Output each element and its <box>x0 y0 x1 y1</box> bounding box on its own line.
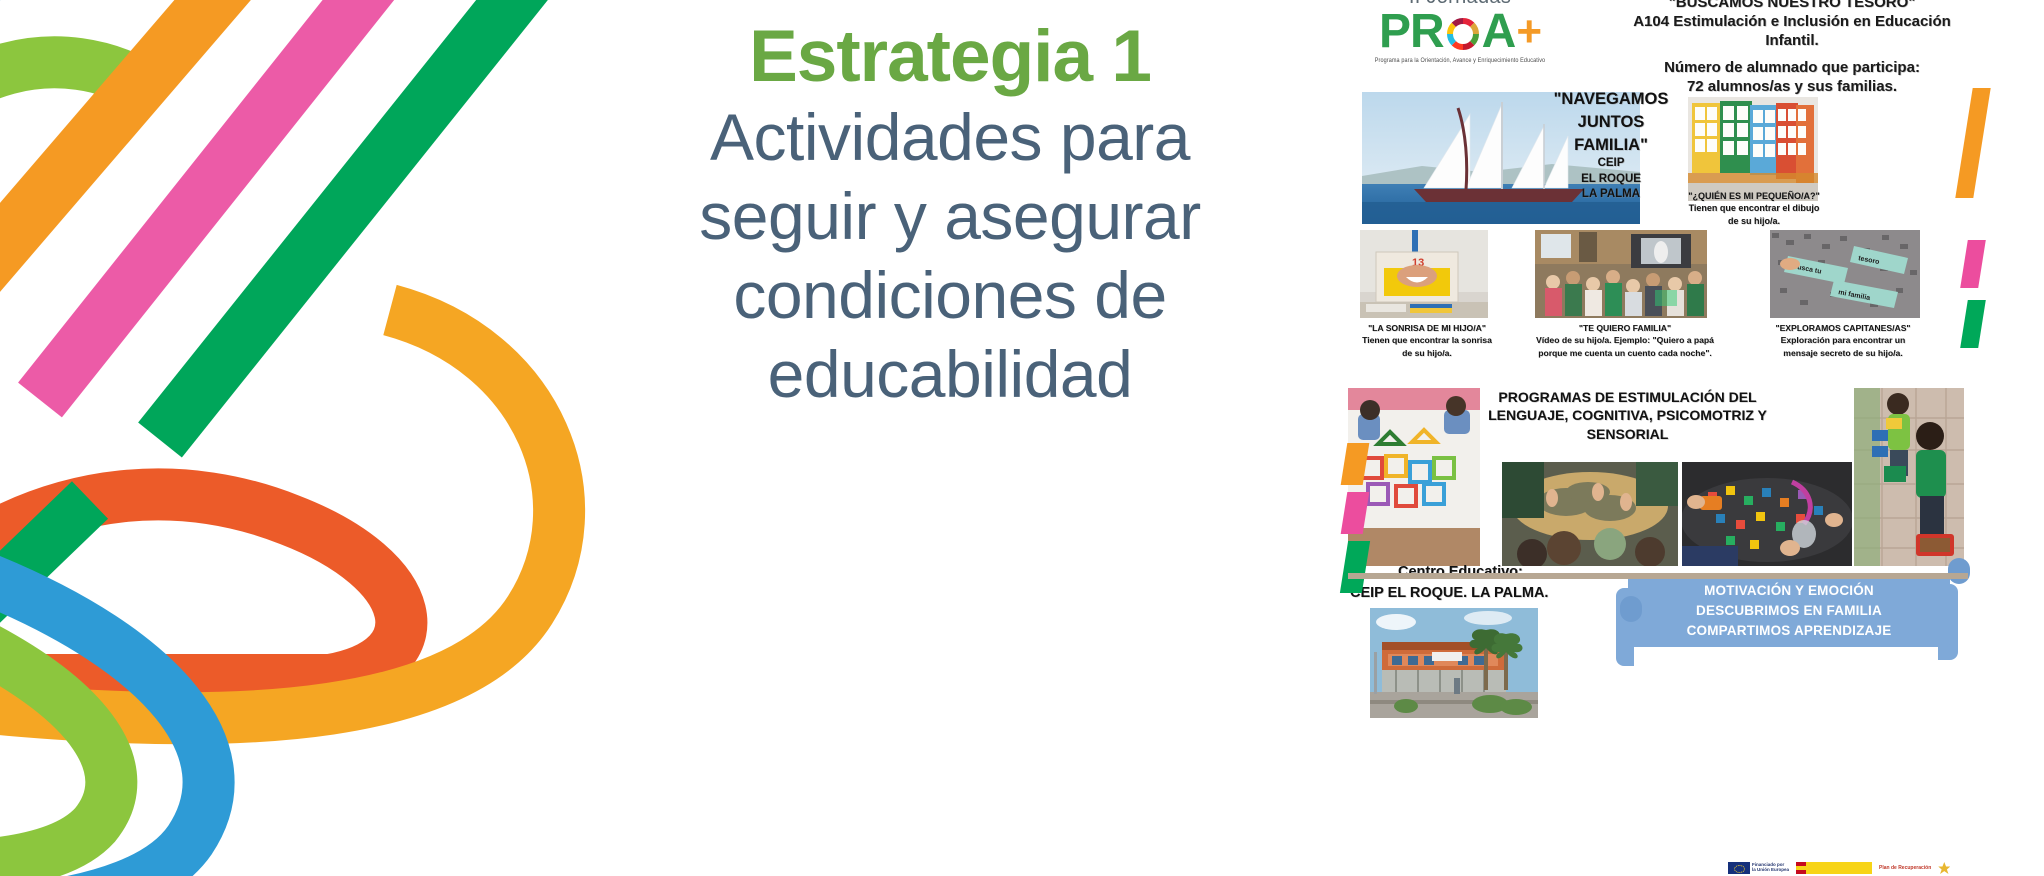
nav-line-3: FAMILIA" <box>1552 134 1670 157</box>
programs-line-2: LENGUAJE, COGNITIVA, PSICOMOTRIZ Y <box>1455 406 1800 424</box>
caption-exploramos: "EXPLORAMOS CAPITANES/AS" Exploración pa… <box>1748 322 1938 359</box>
photo-school-building <box>1370 608 1538 718</box>
photo-piezas-colores <box>1682 462 1852 566</box>
programs-section-title: PROGRAMAS DE ESTIMULACIÓN DEL LENGUAJE, … <box>1455 388 1800 443</box>
plan-recuperacion-logo: Plan de Recuperación <box>1879 862 1931 874</box>
decorative-swirl-graphic <box>0 0 620 876</box>
nav-line-1: "NAVEGAMOS <box>1552 88 1670 111</box>
proa-wordmark: PR <box>1365 9 1555 55</box>
left-slide: Estrategia 1 Actividades para seguir y a… <box>0 0 1330 876</box>
header-line-4: Número de alumnado que participa: <box>1552 59 2032 78</box>
caption-te-quiero-familia: "TE QUIERO FAMILIA" Vídeo de su hijo/a. … <box>1512 322 1738 359</box>
photo-manos-mesa <box>1502 462 1678 566</box>
funder-logos-row: Financiado por la Unión Europea Plan de … <box>1728 860 2028 876</box>
stripe-green-right <box>1960 300 1986 348</box>
photo-patio-ninos <box>1854 388 1964 566</box>
caption-line-1: Vídeo de su hijo/a. Ejemplo: "Quiero a p… <box>1512 334 1738 346</box>
stripe-pink-right <box>1960 240 1986 288</box>
caption-title: "TE QUIERO FAMILIA" <box>1512 322 1738 334</box>
caption-line-2: de su hijo/a. <box>1660 215 1848 227</box>
caption-title: "LA SONRISA DE MI HIJO/A" <box>1342 322 1512 334</box>
centro-line-2: CEIP EL ROQUE. LA PALMA. <box>1350 585 1548 601</box>
proa-logo: II Jornadas PR <box>1365 0 1555 64</box>
photo-construccion <box>1348 388 1480 566</box>
caption-title: "EXPLORAMOS CAPITANES/AS" <box>1748 322 1938 334</box>
scroll-line-2: DESCUBRIMOS EN FAMILIA <box>1696 601 1882 621</box>
eu-funding-text: Financiado por la Unión Europea <box>1752 863 1789 873</box>
nav-line-2: JUNTOS <box>1552 111 1670 134</box>
plan-text: Plan de Recuperación <box>1879 865 1931 871</box>
subtitle-line-1: Actividades para <box>600 98 1300 177</box>
eu-flag-icon <box>1728 862 1750 874</box>
navegamos-juntos-label: "NAVEGAMOS JUNTOS FAMILIA" CEIP EL ROQUE… <box>1552 88 1670 202</box>
caption-line-1: Exploración para encontrar un <box>1748 334 1938 346</box>
caption-quien-es-mi-pequeno: "¿QUIÉN ES MI PEQUEÑO/A?" Tienen que enc… <box>1660 190 1848 227</box>
poster-header-text: "BUSCAMOS NUESTRO TESORO" A104 Estimulac… <box>1552 0 2032 97</box>
scroll-banner-body: MOTIVACIÓN Y EMOCIÓN DESCUBRIMOS EN FAMI… <box>1628 575 1950 647</box>
photo-sonrisa: 13 <box>1360 230 1488 318</box>
nav-line-5: EL ROQUE <box>1552 172 1670 187</box>
caption-line-2: mensaje secreto de su hijo/a. <box>1748 347 1938 359</box>
nav-line-6: LA PALMA <box>1552 187 1670 202</box>
caption-sonrisa: "LA SONRISA DE MI HIJO/A" Tienen que enc… <box>1342 322 1512 359</box>
caption-title: "¿QUIÉN ES MI PEQUEÑO/A?" <box>1660 190 1848 202</box>
subtitle-line-2: seguir y asegurar <box>600 177 1300 256</box>
caption-line-1: Tienen que encontrar la sonrisa <box>1342 334 1512 346</box>
proa-pr: PR <box>1379 9 1444 55</box>
photo-exploramos-capitanes: Busca tu tesoro mi familia <box>1770 230 1920 318</box>
header-line-1: "BUSCAMOS NUESTRO TESORO" <box>1552 0 2032 13</box>
programs-line-3: SENSORIAL <box>1455 425 1800 443</box>
stripe-orange-right <box>1955 88 1990 198</box>
strategy-heading: Estrategia 1 <box>600 16 1300 98</box>
scroll-curl-left <box>1620 596 1642 622</box>
subtitle-line-3: condiciones de <box>600 256 1300 335</box>
poster-thumbnail[interactable]: II Jornadas PR <box>1330 0 2044 876</box>
crown-icon <box>1938 862 1950 874</box>
sdg-wheel-icon <box>1445 14 1481 50</box>
slide-canvas: Estrategia 1 Actividades para seguir y a… <box>0 0 2044 876</box>
programs-line-1: PROGRAMAS DE ESTIMULACIÓN DEL <box>1455 388 1800 406</box>
nav-line-4: CEIP <box>1552 156 1670 171</box>
subtitle-line-4: educabilidad <box>600 335 1300 414</box>
scroll-line-3: COMPARTIMOS APRENDIZAJE <box>1687 621 1892 641</box>
classroom-board-photo <box>1688 97 1818 201</box>
photo-te-quiero-familia <box>1535 230 1707 318</box>
bottom-photo-strip <box>1348 566 1968 572</box>
gobierno-canarias-logo <box>1938 862 1950 874</box>
caption-line-1: Tienen que encontrar el dibujo <box>1660 202 1848 214</box>
spain-flag-icon <box>1796 862 1872 874</box>
caption-line-2: porque me cuenta un cuento cada noche". <box>1512 347 1738 359</box>
eu-text-line-2: la Unión Europea <box>1752 867 1789 872</box>
header-line-2: A104 Estimulación e Inclusión en Educaci… <box>1552 13 2032 32</box>
header-line-3: Infantil. <box>1552 32 2032 51</box>
gobierno-espana-logo <box>1796 862 1872 874</box>
proa-plus: + <box>1516 11 1541 53</box>
proa-a: A <box>1482 9 1516 55</box>
slide-title-block: Estrategia 1 Actividades para seguir y a… <box>600 16 1300 415</box>
scroll-line-1: MOTIVACIÓN Y EMOCIÓN <box>1704 581 1874 601</box>
proa-tagline: Programa para la Orientación, Avance y E… <box>1365 57 1555 64</box>
eu-funding-logo: Financiado por la Unión Europea <box>1728 862 1789 874</box>
caption-line-2: de su hijo/a. <box>1342 347 1512 359</box>
